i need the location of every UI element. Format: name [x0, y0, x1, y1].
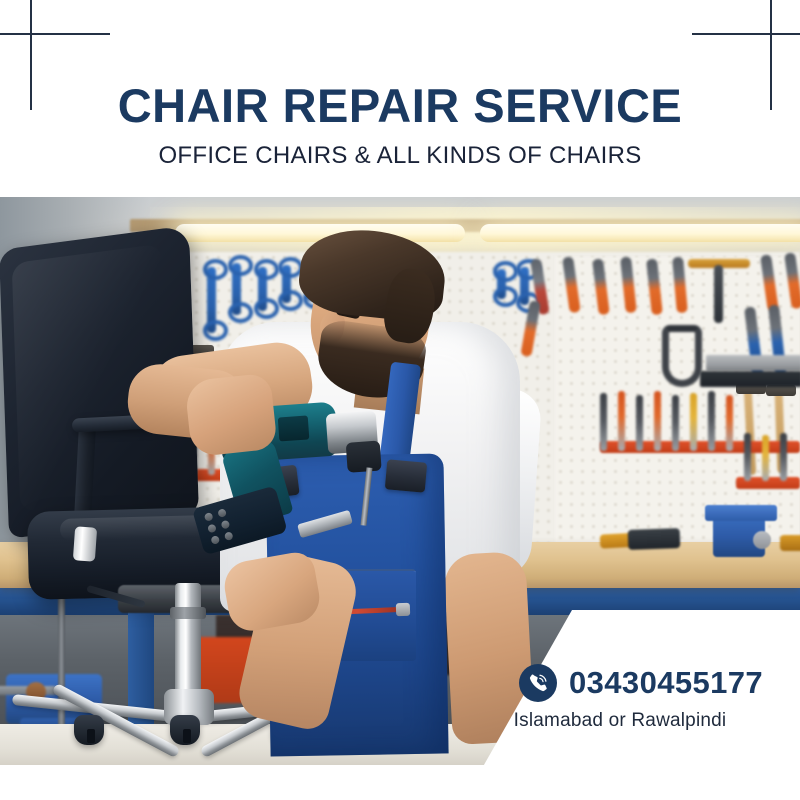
- chair-caster: [74, 715, 104, 745]
- screwdriver-icon: [744, 433, 751, 481]
- power-tool-icon: [780, 535, 800, 551]
- power-tool-icon: [628, 528, 681, 550]
- screwdriver-icon: [672, 395, 679, 451]
- screwdriver-icon: [618, 391, 625, 451]
- screwdriver-rack: [600, 441, 800, 453]
- bench-vise-right: [705, 495, 777, 559]
- page-subtitle: OFFICE CHAIRS & ALL KINDS OF CHAIRS: [0, 141, 800, 171]
- vise-jaw: [705, 505, 777, 521]
- hand-right-gripping-drill: [184, 373, 277, 458]
- page-title: CHAIR REPAIR SERVICE: [0, 80, 800, 131]
- battery-contact: [210, 535, 220, 545]
- battery-contact: [204, 512, 214, 522]
- poster-root: CHAIR REPAIR SERVICE OFFICE CHAIRS & ALL…: [0, 0, 800, 800]
- phone-row[interactable]: 03430455177: [519, 660, 800, 706]
- chair-armrest-chrome-bracket: [73, 526, 97, 561]
- corner-decoration-top-right-horizontal: [692, 33, 800, 35]
- battery-contact: [217, 508, 227, 518]
- header-banner: CHAIR REPAIR SERVICE OFFICE CHAIRS & ALL…: [0, 0, 800, 197]
- vise-knob: [753, 531, 771, 549]
- zipper-pull: [396, 603, 410, 616]
- drill-bit: [360, 467, 372, 525]
- screwdriver-icon: [690, 393, 697, 451]
- c-clamp-icon: [662, 325, 702, 387]
- screwdriver-icon: [636, 395, 643, 451]
- screwdriver-icon: [654, 391, 661, 451]
- t-handle-wrench-shaft-icon: [714, 265, 723, 323]
- phone-icon: [519, 664, 557, 702]
- drill-chuck-collar: [346, 441, 382, 473]
- hand-saw-icon: [700, 371, 800, 387]
- screwdriver-icon: [600, 393, 607, 451]
- battery-contact: [220, 520, 230, 530]
- overall-buckle-right: [385, 459, 427, 492]
- hand-saw-icon: [706, 355, 800, 371]
- drill-vent: [278, 415, 310, 441]
- battery-contact: [207, 524, 217, 534]
- corner-decoration-top-left-horizontal: [0, 33, 110, 35]
- screwdriver-icon: [762, 435, 769, 481]
- battery-contact: [224, 531, 234, 541]
- screwdriver-icon: [708, 391, 715, 451]
- service-location: Islamabad or Rawalpindi: [440, 710, 800, 732]
- screwdriver-icon: [780, 433, 787, 481]
- drill-battery: [192, 486, 288, 556]
- screwdriver-icon: [726, 395, 733, 451]
- phone-number[interactable]: 03430455177: [569, 664, 763, 702]
